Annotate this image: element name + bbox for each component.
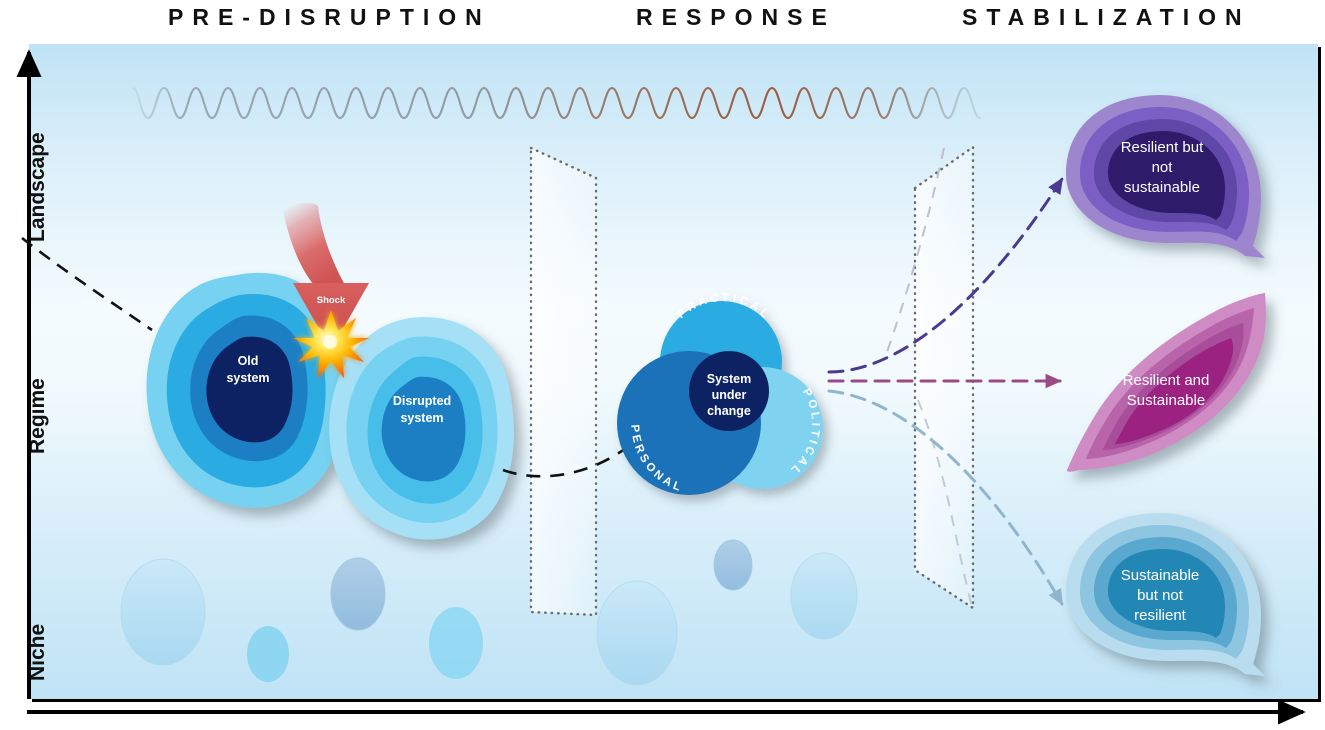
transition-curtain-2 [886, 147, 973, 608]
diagram-root: PRE-DISRUPTION RESPONSE STABILIZATION La… [0, 0, 1325, 730]
niche-bubble [791, 553, 857, 639]
niche-bubble [121, 559, 205, 665]
outcome-resilient-not-sustainable: Resilient but not sustainable [1066, 95, 1265, 258]
shock-label: Shock [317, 295, 346, 306]
old-system-label-line1: Old [238, 354, 259, 368]
diagram-canvas: Old system Disrupted system Shock [0, 0, 1325, 730]
outcome-resilient-and-sustainable: Resilient and Sustainable [1067, 293, 1266, 472]
disrupted-system-blob: Disrupted system [329, 317, 514, 539]
system-under-change-line2: under [712, 388, 747, 402]
outcome1-label-line1: Resilient but [1121, 139, 1204, 156]
landscape-wave [133, 88, 980, 118]
old-system-label-line2: system [226, 371, 269, 385]
niche-bubble [429, 607, 483, 679]
niche-bubble [331, 558, 385, 630]
curtain-outline [531, 148, 596, 615]
outcome-sustainable-not-resilient: Sustainable but not resilient [1066, 513, 1265, 676]
outcome3-label-line2: but not [1137, 587, 1184, 604]
outcome2-label-line2: Sustainable [1127, 392, 1205, 409]
system-under-change-line1: System [707, 372, 751, 386]
niche-bubble [247, 626, 289, 682]
transition-curtain-1 [531, 148, 596, 615]
outcome2-label-line1: Resilient and [1123, 372, 1210, 389]
outcome3-label-line3: resilient [1134, 607, 1187, 624]
outcome1-label-line2: not [1152, 159, 1174, 176]
outcome1-label-line3: sustainable [1124, 179, 1200, 196]
disrupted-system-label-line1: Disrupted [393, 394, 451, 408]
trajectory-entry [22, 238, 152, 330]
curtain-outline [915, 147, 973, 608]
shock-arrow-curve [283, 203, 345, 285]
system-under-change-line3: change [707, 404, 751, 418]
starburst-hotspot [323, 335, 337, 349]
outcome3-label-line1: Sustainable [1121, 567, 1199, 584]
niche-bubbles [121, 540, 857, 685]
disrupted-system-label-line2: system [400, 411, 443, 425]
niche-bubble [597, 581, 677, 685]
system-under-change: PRACTICAL PERSONAL POLITICAL System unde… [617, 292, 823, 495]
niche-bubble [714, 540, 752, 590]
